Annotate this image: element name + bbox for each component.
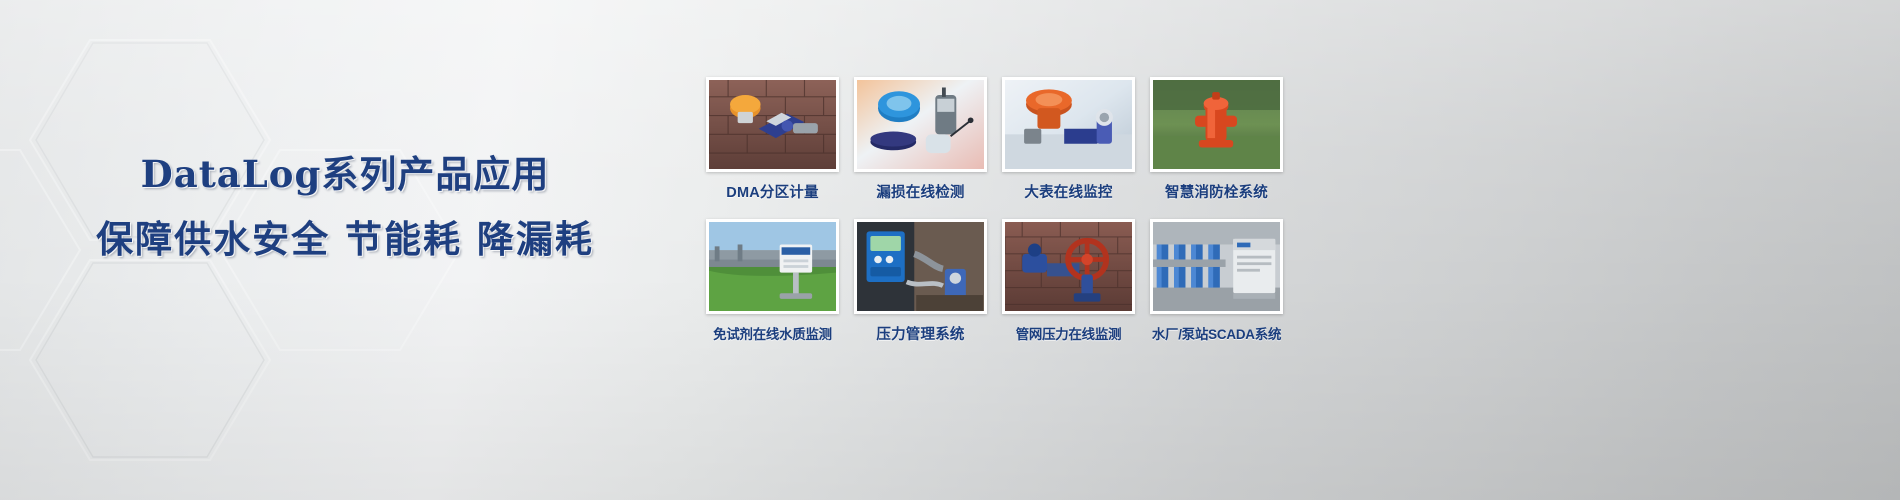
product-card-pipe-pressure[interactable]: 管网压力在线监测 [1002, 219, 1135, 344]
product-card-scada[interactable]: 水厂/泵站SCADA系统 [1150, 219, 1283, 344]
headline-block: DataLog系列产品应用 保障供水安全 节能耗 降漏耗 [0, 148, 690, 266]
product-card-dma[interactable]: DMA分区计量 [706, 77, 839, 202]
fire-hydrant-icon [1153, 80, 1280, 169]
pressure-controller-icon [857, 222, 984, 311]
product-caption: 压力管理系统 [854, 323, 987, 344]
product-caption: 免试剂在线水质监测 [706, 323, 839, 343]
product-caption: DMA分区计量 [706, 181, 839, 202]
product-card-leak[interactable]: 漏损在线检测 [854, 77, 987, 202]
product-caption: 智慧消防栓系统 [1150, 181, 1283, 202]
leak-detection-sensor-icon [857, 80, 984, 169]
product-card-hydrant[interactable]: 智慧消防栓系统 [1150, 77, 1283, 202]
scada-cabinet-icon [1153, 222, 1280, 311]
product-caption: 大表在线监控 [1002, 181, 1135, 202]
water-meter-valve-icon [709, 80, 836, 169]
large-meter-icon [1005, 80, 1132, 169]
thumbnail-large-meter[interactable] [1002, 77, 1135, 172]
thumbnail-hydrant[interactable] [1150, 77, 1283, 172]
product-caption: 管网压力在线监测 [1002, 323, 1135, 343]
thumbnail-dma[interactable] [706, 77, 839, 172]
product-card-water-quality[interactable]: 免试剂在线水质监测 [706, 219, 839, 344]
thumbnail-scada[interactable] [1150, 219, 1283, 314]
pipe-pressure-valve-icon [1005, 222, 1132, 311]
product-banner: DataLog系列产品应用 保障供水安全 节能耗 降漏耗 [0, 0, 1900, 500]
product-grid-row-1: DMA分区计量 [706, 77, 1284, 202]
product-card-pressure-mgmt[interactable]: 压力管理系统 [854, 219, 987, 344]
thumbnail-water-quality[interactable] [706, 219, 839, 314]
thumbnail-leak[interactable] [854, 77, 987, 172]
water-quality-station-icon [709, 222, 836, 311]
headline-line-2: 保障供水安全 节能耗 降漏耗 [0, 214, 690, 266]
product-grid-row-2: 免试剂在线水质监测 [706, 219, 1284, 344]
headline-line-1: DataLog系列产品应用 [0, 148, 690, 200]
product-caption: 水厂/泵站SCADA系统 [1150, 323, 1283, 343]
thumbnail-pressure-mgmt[interactable] [854, 219, 987, 314]
product-card-large-meter[interactable]: 大表在线监控 [1002, 77, 1135, 202]
thumbnail-pipe-pressure[interactable] [1002, 219, 1135, 314]
product-caption: 漏损在线检测 [854, 181, 987, 202]
